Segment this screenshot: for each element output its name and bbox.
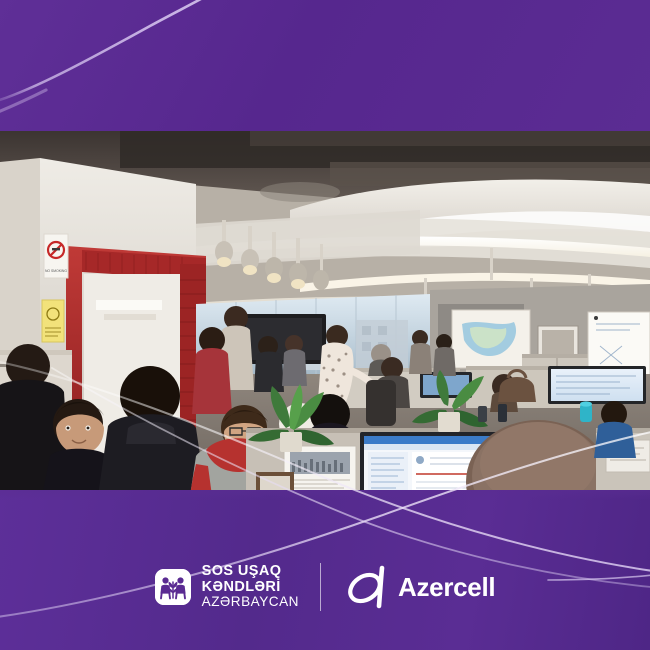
top-purple-banner <box>0 0 650 131</box>
logo-lockup: SOS UŞAQ KƏNDLƏRİ AZƏRBAYCAN Azercell <box>0 552 650 622</box>
office-photo-illustration: NO SMOKING <box>0 128 650 496</box>
decorative-arc-icon <box>0 0 650 131</box>
sos-wordmark: SOS UŞAQ KƏNDLƏRİ AZƏRBAYCAN <box>202 564 299 610</box>
sos-line-1: SOS UŞAQ <box>202 564 299 580</box>
logo-divider <box>320 563 321 611</box>
svg-text:NO SMOKING: NO SMOKING <box>45 269 67 273</box>
azercell-wordmark: Azercell <box>398 572 495 603</box>
office-photo: NO SMOKING <box>0 128 650 496</box>
azercell-alpha-swoosh-icon <box>342 565 398 609</box>
azercell-logo[interactable]: Azercell <box>342 565 495 609</box>
sos-childrens-villages-mark-icon <box>155 569 191 605</box>
band-top-blend <box>0 490 650 500</box>
sos-childrens-villages-logo[interactable]: SOS UŞAQ KƏNDLƏRİ AZƏRBAYCAN <box>155 564 299 610</box>
promotional-card: NO SMOKING <box>0 0 650 650</box>
sos-line-2: KƏNDLƏRİ <box>202 580 299 596</box>
sos-line-3: AZƏRBAYCAN <box>202 595 299 610</box>
